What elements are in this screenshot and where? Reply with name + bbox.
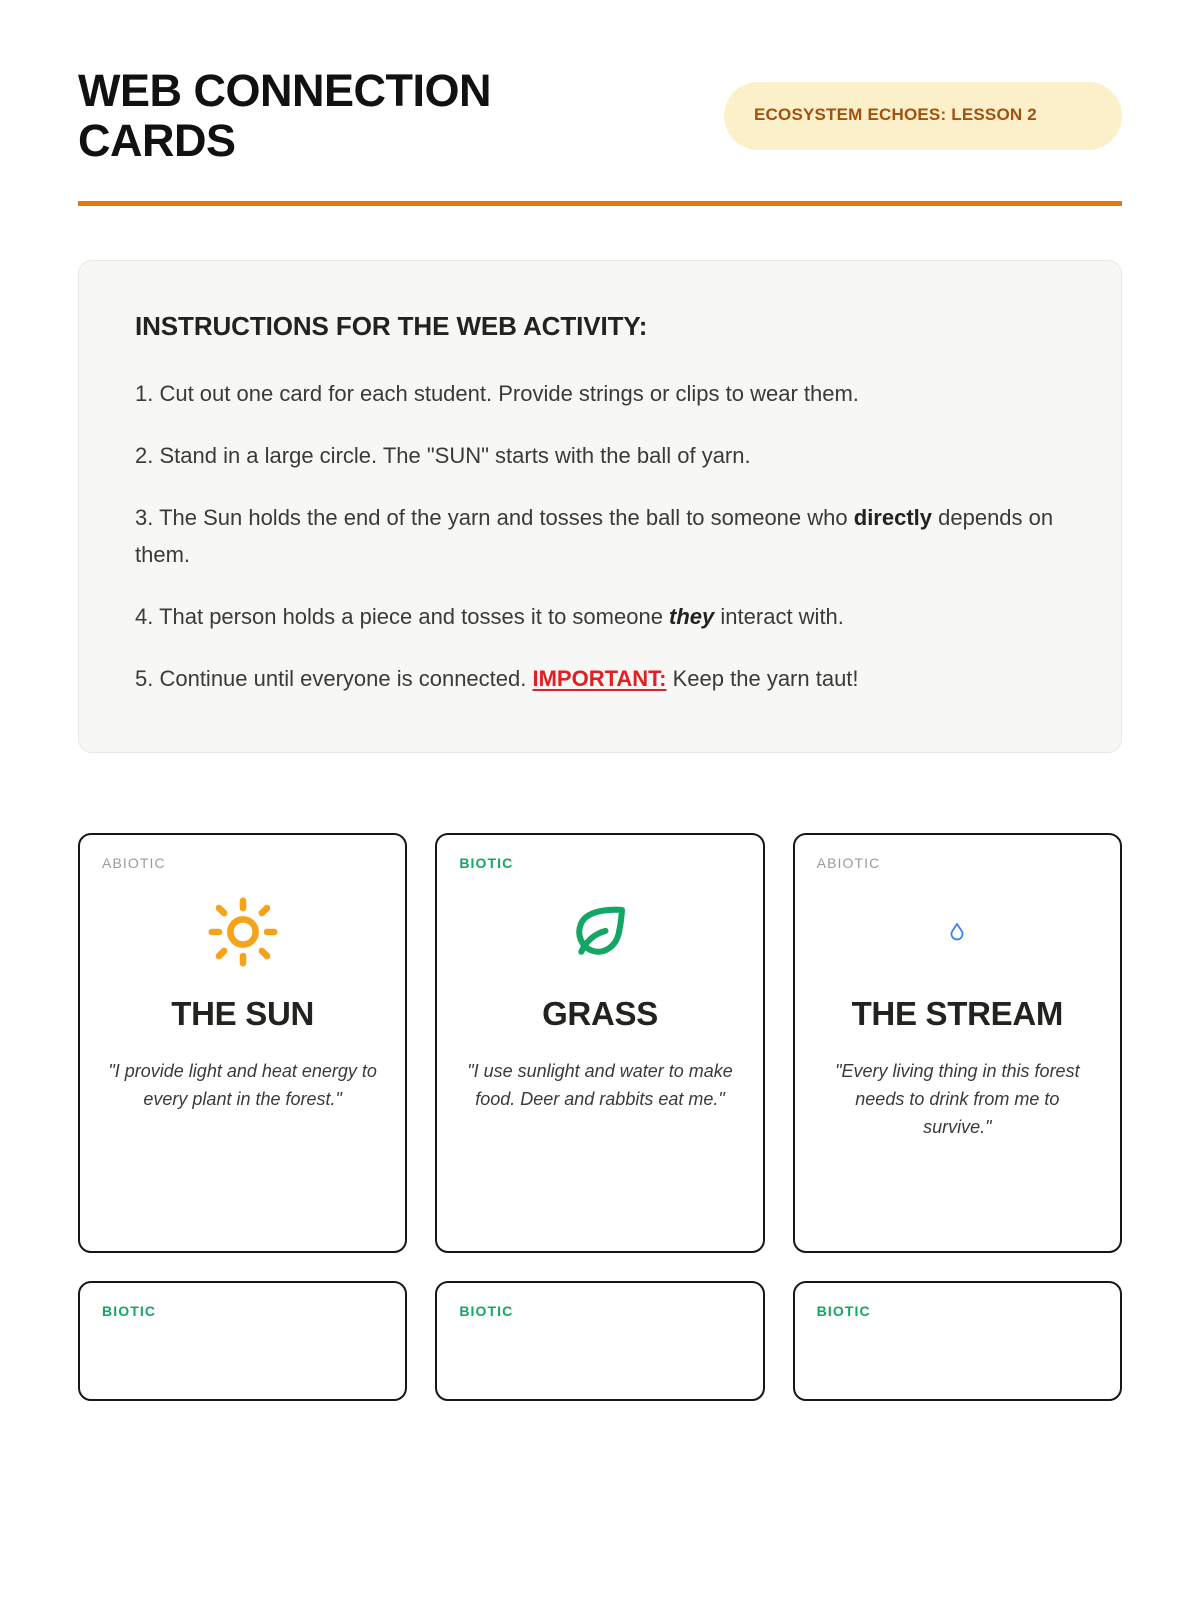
instructions-title: INSTRUCTIONS FOR THE WEB ACTIVITY: — [135, 311, 1065, 342]
water-drop-icon — [946, 895, 968, 969]
connection-card[interactable]: BIOTIC — [435, 1281, 764, 1401]
instruction-step: 3. The Sun holds the end of the yarn and… — [135, 500, 1065, 573]
sun-icon — [207, 895, 279, 969]
card-category-tag: ABIOTIC — [817, 855, 881, 871]
step-text: 5. Continue until everyone is connected. — [135, 666, 532, 691]
instruction-step: 1. Cut out one card for each student. Pr… — [135, 376, 1065, 412]
card-title: THE STREAM — [852, 995, 1064, 1033]
step-text: 3. The Sun holds the end of the yarn and… — [135, 505, 854, 530]
card-quote: "I use sunlight and water to make food. … — [459, 1058, 740, 1114]
card-title: GRASS — [542, 995, 658, 1033]
page-title: WEB CONNECTION CARDS — [78, 66, 598, 167]
leaf-icon — [567, 895, 633, 969]
card-category-tag: BIOTIC — [102, 1303, 156, 1319]
step-text: Keep the yarn taut! — [667, 666, 859, 691]
connection-card[interactable]: ABIOTICTHE STREAM"Every living thing in … — [793, 833, 1122, 1253]
connection-card[interactable]: BIOTIC — [793, 1281, 1122, 1401]
card-category-tag: BIOTIC — [459, 855, 513, 871]
emphasis-bold: directly — [854, 505, 932, 530]
step-text: interact with. — [714, 604, 844, 629]
connection-card-grid: ABIOTICTHE SUN"I provide light and heat … — [78, 833, 1122, 1253]
card-title: THE SUN — [171, 995, 314, 1033]
step-text: 1. Cut out one card for each student. Pr… — [135, 381, 859, 406]
card-quote: "Every living thing in this forest needs… — [817, 1058, 1098, 1142]
connection-card-grid-next-row: BIOTICBIOTICBIOTIC — [78, 1281, 1122, 1401]
card-category-tag: ABIOTIC — [102, 855, 166, 871]
connection-card[interactable]: BIOTIC — [78, 1281, 407, 1401]
instruction-step: 4. That person holds a piece and tosses … — [135, 599, 1065, 635]
instructions-panel: INSTRUCTIONS FOR THE WEB ACTIVITY: 1. Cu… — [78, 260, 1122, 753]
connection-card[interactable]: ABIOTICTHE SUN"I provide light and heat … — [78, 833, 407, 1253]
step-text: 2. Stand in a large circle. The "SUN" st… — [135, 443, 751, 468]
card-category-tag: BIOTIC — [459, 1303, 513, 1319]
page-header: WEB CONNECTION CARDS ECOSYSTEM ECHOES: L… — [78, 0, 1122, 167]
worksheet-page: WEB CONNECTION CARDS ECOSYSTEM ECHOES: L… — [0, 0, 1200, 1600]
connection-card[interactable]: BIOTICGRASS"I use sunlight and water to … — [435, 833, 764, 1253]
card-category-tag: BIOTIC — [817, 1303, 871, 1319]
important-label: IMPORTANT: — [532, 666, 666, 691]
instruction-step: 2. Stand in a large circle. The "SUN" st… — [135, 438, 1065, 474]
lesson-badge: ECOSYSTEM ECHOES: LESSON 2 — [724, 82, 1122, 150]
emphasis-italic: they — [669, 604, 714, 629]
card-quote: "I provide light and heat energy to ever… — [102, 1058, 383, 1114]
instruction-step: 5. Continue until everyone is connected.… — [135, 661, 1065, 697]
instructions-step-list: 1. Cut out one card for each student. Pr… — [135, 376, 1065, 698]
header-divider — [78, 201, 1122, 206]
step-text: 4. That person holds a piece and tosses … — [135, 604, 669, 629]
